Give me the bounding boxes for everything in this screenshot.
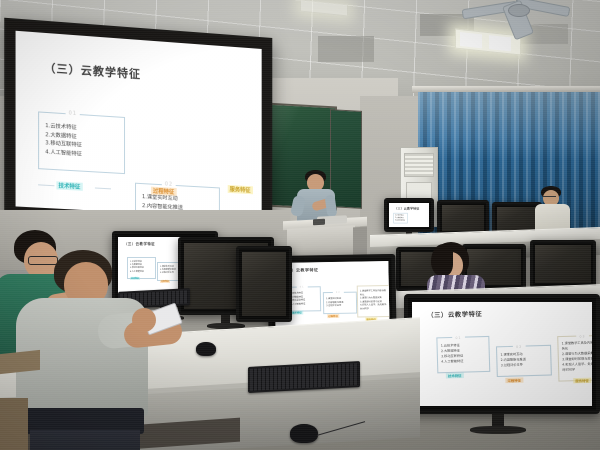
slide-line: 时时可学 <box>562 366 592 373</box>
slide-title: （三）云教学特征 <box>395 207 420 211</box>
slide-tag-2: 过程特征 <box>505 377 523 383</box>
monitor-left-back[interactable] <box>236 246 292 322</box>
monitor-foreground-right-screen: （三）云教学特征 01 1.云技术特征 2.大数据特征 3.移动互联特征 4.人… <box>412 302 592 406</box>
slide-tag-3: 服务特征 <box>228 185 253 194</box>
slide-line: 3.移动互联特征 <box>395 219 406 221</box>
classroom-photo: （三）云教学特征 01 1.云技术特征 2.大数据特征 3.移动互联特征 4.人… <box>0 0 600 450</box>
projection-screen: （三）云教学特征 01 1.云技术特征 2.大数据特征 3.移动互联特征 4.人… <box>4 18 272 234</box>
mouse[interactable] <box>196 342 216 356</box>
slide-on-monitor: （三）云教学特征 01 1.云技术特征 2.大数据特征 3.移动互联特征 4.人… <box>412 302 592 406</box>
slide-column-1: 01 1.云技术特征 2.大数据特征 3.移动互联特征 4.人工智能特征 <box>436 336 490 374</box>
mouse[interactable] <box>290 424 318 443</box>
slide-tag-2: 过程特征 <box>327 314 339 318</box>
monitor-right-row-b-screen <box>442 205 484 231</box>
ac-vent <box>404 153 434 177</box>
projection-screen-surface: （三）云教学特征 01 1.云技术特征 2.大数据特征 3.移动互联特征 4.人… <box>16 31 262 220</box>
slide-line: 3.过程评价主导 <box>326 304 354 308</box>
monitor-right-row-c-screen <box>497 207 537 232</box>
slide-title: （三）云教学特征 <box>427 309 482 320</box>
slide-title: （三）云教学特征 <box>124 241 155 246</box>
slide-line: 时时可学 <box>360 307 390 311</box>
ceiling-tile-vent <box>318 36 374 62</box>
slide-column-1: 01 1.云技术特征 2.大数据特征 3.移动互联特征 4.人工智能特征 <box>38 111 125 174</box>
slide-line: 4.人工智能特征 <box>441 358 486 365</box>
slide-tag-2: 过程特征 <box>151 187 176 196</box>
wooden-chair <box>0 350 40 374</box>
slide-column-2-number: 02 <box>333 291 344 294</box>
slide-column-1-number: 01 <box>452 336 465 341</box>
monitor-right-row-a-screen: （三）云教学特征 1.云技术特征 2.大数据特征 3.移动互联特征 <box>389 203 429 227</box>
podium-device <box>313 219 325 226</box>
slide-line: 4.人工智能特征 <box>290 302 318 306</box>
attendee-hair-side <box>431 244 453 276</box>
slide-on-monitor: （三）云教学特征 1.云技术特征 2.大数据特征 3.移动互联特征 <box>389 203 429 227</box>
monitor-right-mid-c-screen <box>535 245 591 283</box>
slide-column-3: 03 1.课堂教学工具及内容云服 务化 2.课堂行为大数据采集 3.课堂即时前馈… <box>557 334 592 381</box>
attendee-trousers <box>30 430 140 450</box>
glasses-icon <box>542 196 556 200</box>
slide-column-3-number: 03 <box>576 334 589 339</box>
ceiling-fan <box>470 0 566 30</box>
slide-column-1-number: 01 <box>66 110 81 117</box>
presenter-arm-right <box>325 194 338 217</box>
slide-title: （三）云教学特征 <box>44 59 141 82</box>
slide-column-1-number: 01 <box>297 285 308 288</box>
slide-tag-1: 技术特征 <box>56 181 82 191</box>
slide-line: 1.课堂教学工具及内容云服 <box>360 289 390 293</box>
slide-tag-3: 服务特征 <box>573 378 591 384</box>
slide-column-3: 1.课堂教学工具及内容云服 务化 2.课堂行为大数据采集 3.课堂即时前馈与反馈… <box>357 285 390 317</box>
wooden-chair-leg <box>0 398 28 450</box>
monitor-left-back-screen <box>242 252 286 316</box>
monitor-right-row-a[interactable]: （三）云教学特征 1.云技术特征 2.大数据特征 3.移动互联特征 <box>384 198 434 232</box>
attendee-gray-polo <box>20 250 180 450</box>
slide-tag-1: 技术特征 <box>446 373 464 379</box>
slide-column-2-number: 02 <box>513 344 526 349</box>
slide-column-2: 02 1.课堂实时互动 2.内容智能化推送 3.过程评价主导 <box>496 345 552 377</box>
attendee-hand <box>132 308 156 332</box>
monitor-right-mid-c[interactable] <box>530 240 596 288</box>
slide-line: 3.过程评价主导 <box>501 362 548 369</box>
monitor-foreground-right[interactable]: （三）云教学特征 01 1.云技术特征 2.大数据特征 3.移动互联特征 4.人… <box>404 294 600 414</box>
slide-tag-1: 技术特征 <box>291 311 303 315</box>
slide-projected: （三）云教学特征 01 1.云技术特征 2.大数据特征 3.移动互联特征 4.人… <box>16 31 262 220</box>
slide-column-2: 02 1.课堂实时互动 2.内容智能化推送 3.过程评价主导 <box>323 292 357 314</box>
